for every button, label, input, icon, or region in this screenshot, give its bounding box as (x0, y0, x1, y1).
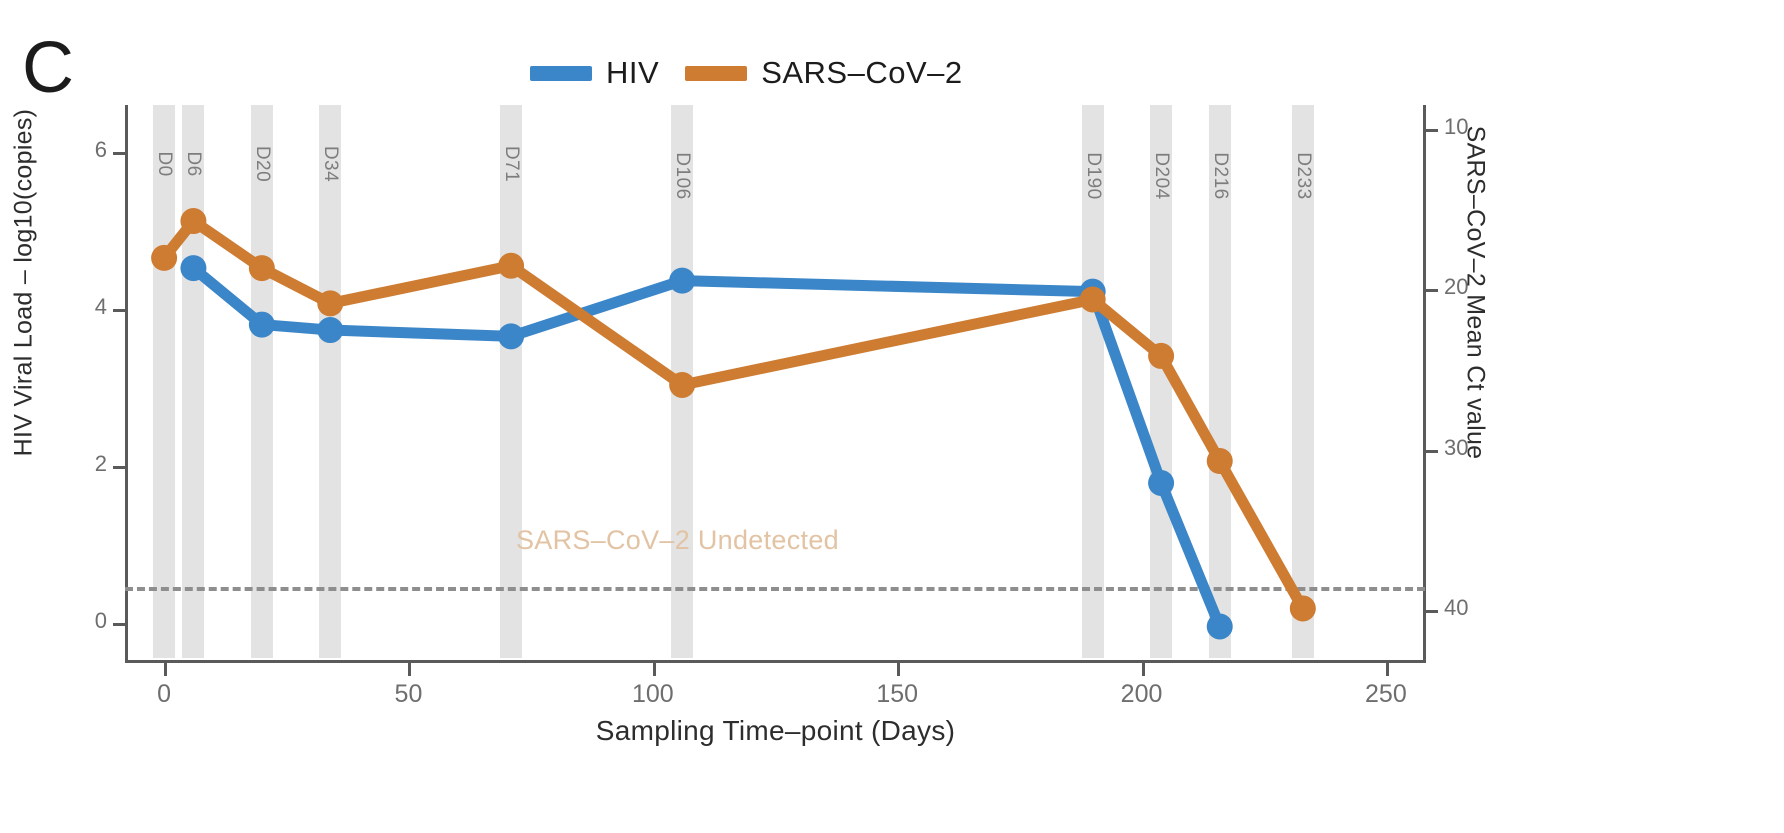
bottom-tick-label: 100 (632, 680, 674, 709)
bottom-tick-label: 250 (1365, 680, 1407, 709)
bottom-axis-title: Sampling Time–point (Days) (125, 715, 1426, 747)
legend-swatch-hiv (530, 66, 592, 81)
bottom-tick-mark (653, 663, 656, 676)
plot-area: D0D6D20D34D71D106D190D204D216D233 SARS–C… (125, 105, 1425, 650)
right-tick-mark (1426, 289, 1438, 292)
data-point (1207, 613, 1233, 639)
data-point (180, 208, 206, 234)
data-point (317, 317, 343, 343)
bottom-tick-label: 0 (157, 680, 171, 709)
data-point (1148, 470, 1174, 496)
bottom-axis-line (125, 660, 1426, 663)
data-point (151, 245, 177, 271)
legend-swatch-sars-cov-2 (685, 66, 747, 81)
series-line-hiv (193, 268, 1219, 626)
series-lines (125, 105, 1425, 650)
right-axis-title: SARS–CoV–2 Mean Ct value (1461, 0, 1490, 613)
legend-label-sars-cov-2: SARS–CoV–2 (761, 55, 962, 91)
chart-legend: HIV SARS–CoV–2 (530, 55, 963, 91)
data-point (498, 253, 524, 279)
data-point (1148, 343, 1174, 369)
left-tick-label: 2 (95, 451, 107, 477)
bottom-tick-mark (1142, 663, 1145, 676)
legend-item-hiv[interactable]: HIV (530, 55, 659, 91)
legend-item-sars-cov-2[interactable]: SARS–CoV–2 (685, 55, 962, 91)
bottom-tick-label: 50 (395, 680, 423, 709)
data-point (1290, 595, 1316, 621)
bottom-tick-mark (1386, 663, 1389, 676)
right-tick-mark (1426, 129, 1438, 132)
left-tick-mark (113, 466, 125, 469)
data-point (249, 255, 275, 281)
left-tick-label: 6 (95, 137, 107, 163)
left-tick-label: 0 (95, 608, 107, 634)
right-tick-mark (1426, 610, 1438, 613)
data-point (249, 312, 275, 338)
bottom-tick-label: 150 (876, 680, 918, 709)
left-axis-title: HIV Viral Load – log10(copies) (10, 0, 39, 603)
bottom-tick-label: 200 (1121, 680, 1163, 709)
bottom-tick-mark (164, 663, 167, 676)
left-tick-mark (113, 152, 125, 155)
data-point (1207, 448, 1233, 474)
left-tick-mark (113, 623, 125, 626)
figure-panel: C HIV SARS–CoV–2 D0D6D20D34D71D106D190D2… (0, 0, 1784, 833)
bottom-tick-mark (408, 663, 411, 676)
data-point (669, 372, 695, 398)
legend-label-hiv: HIV (606, 55, 659, 91)
left-tick-label: 4 (95, 294, 107, 320)
left-tick-mark (113, 309, 125, 312)
data-point (669, 268, 695, 294)
right-tick-mark (1426, 450, 1438, 453)
data-point (498, 323, 524, 349)
bottom-tick-mark (897, 663, 900, 676)
data-point (317, 290, 343, 316)
data-point (180, 255, 206, 281)
data-point (1080, 286, 1106, 312)
